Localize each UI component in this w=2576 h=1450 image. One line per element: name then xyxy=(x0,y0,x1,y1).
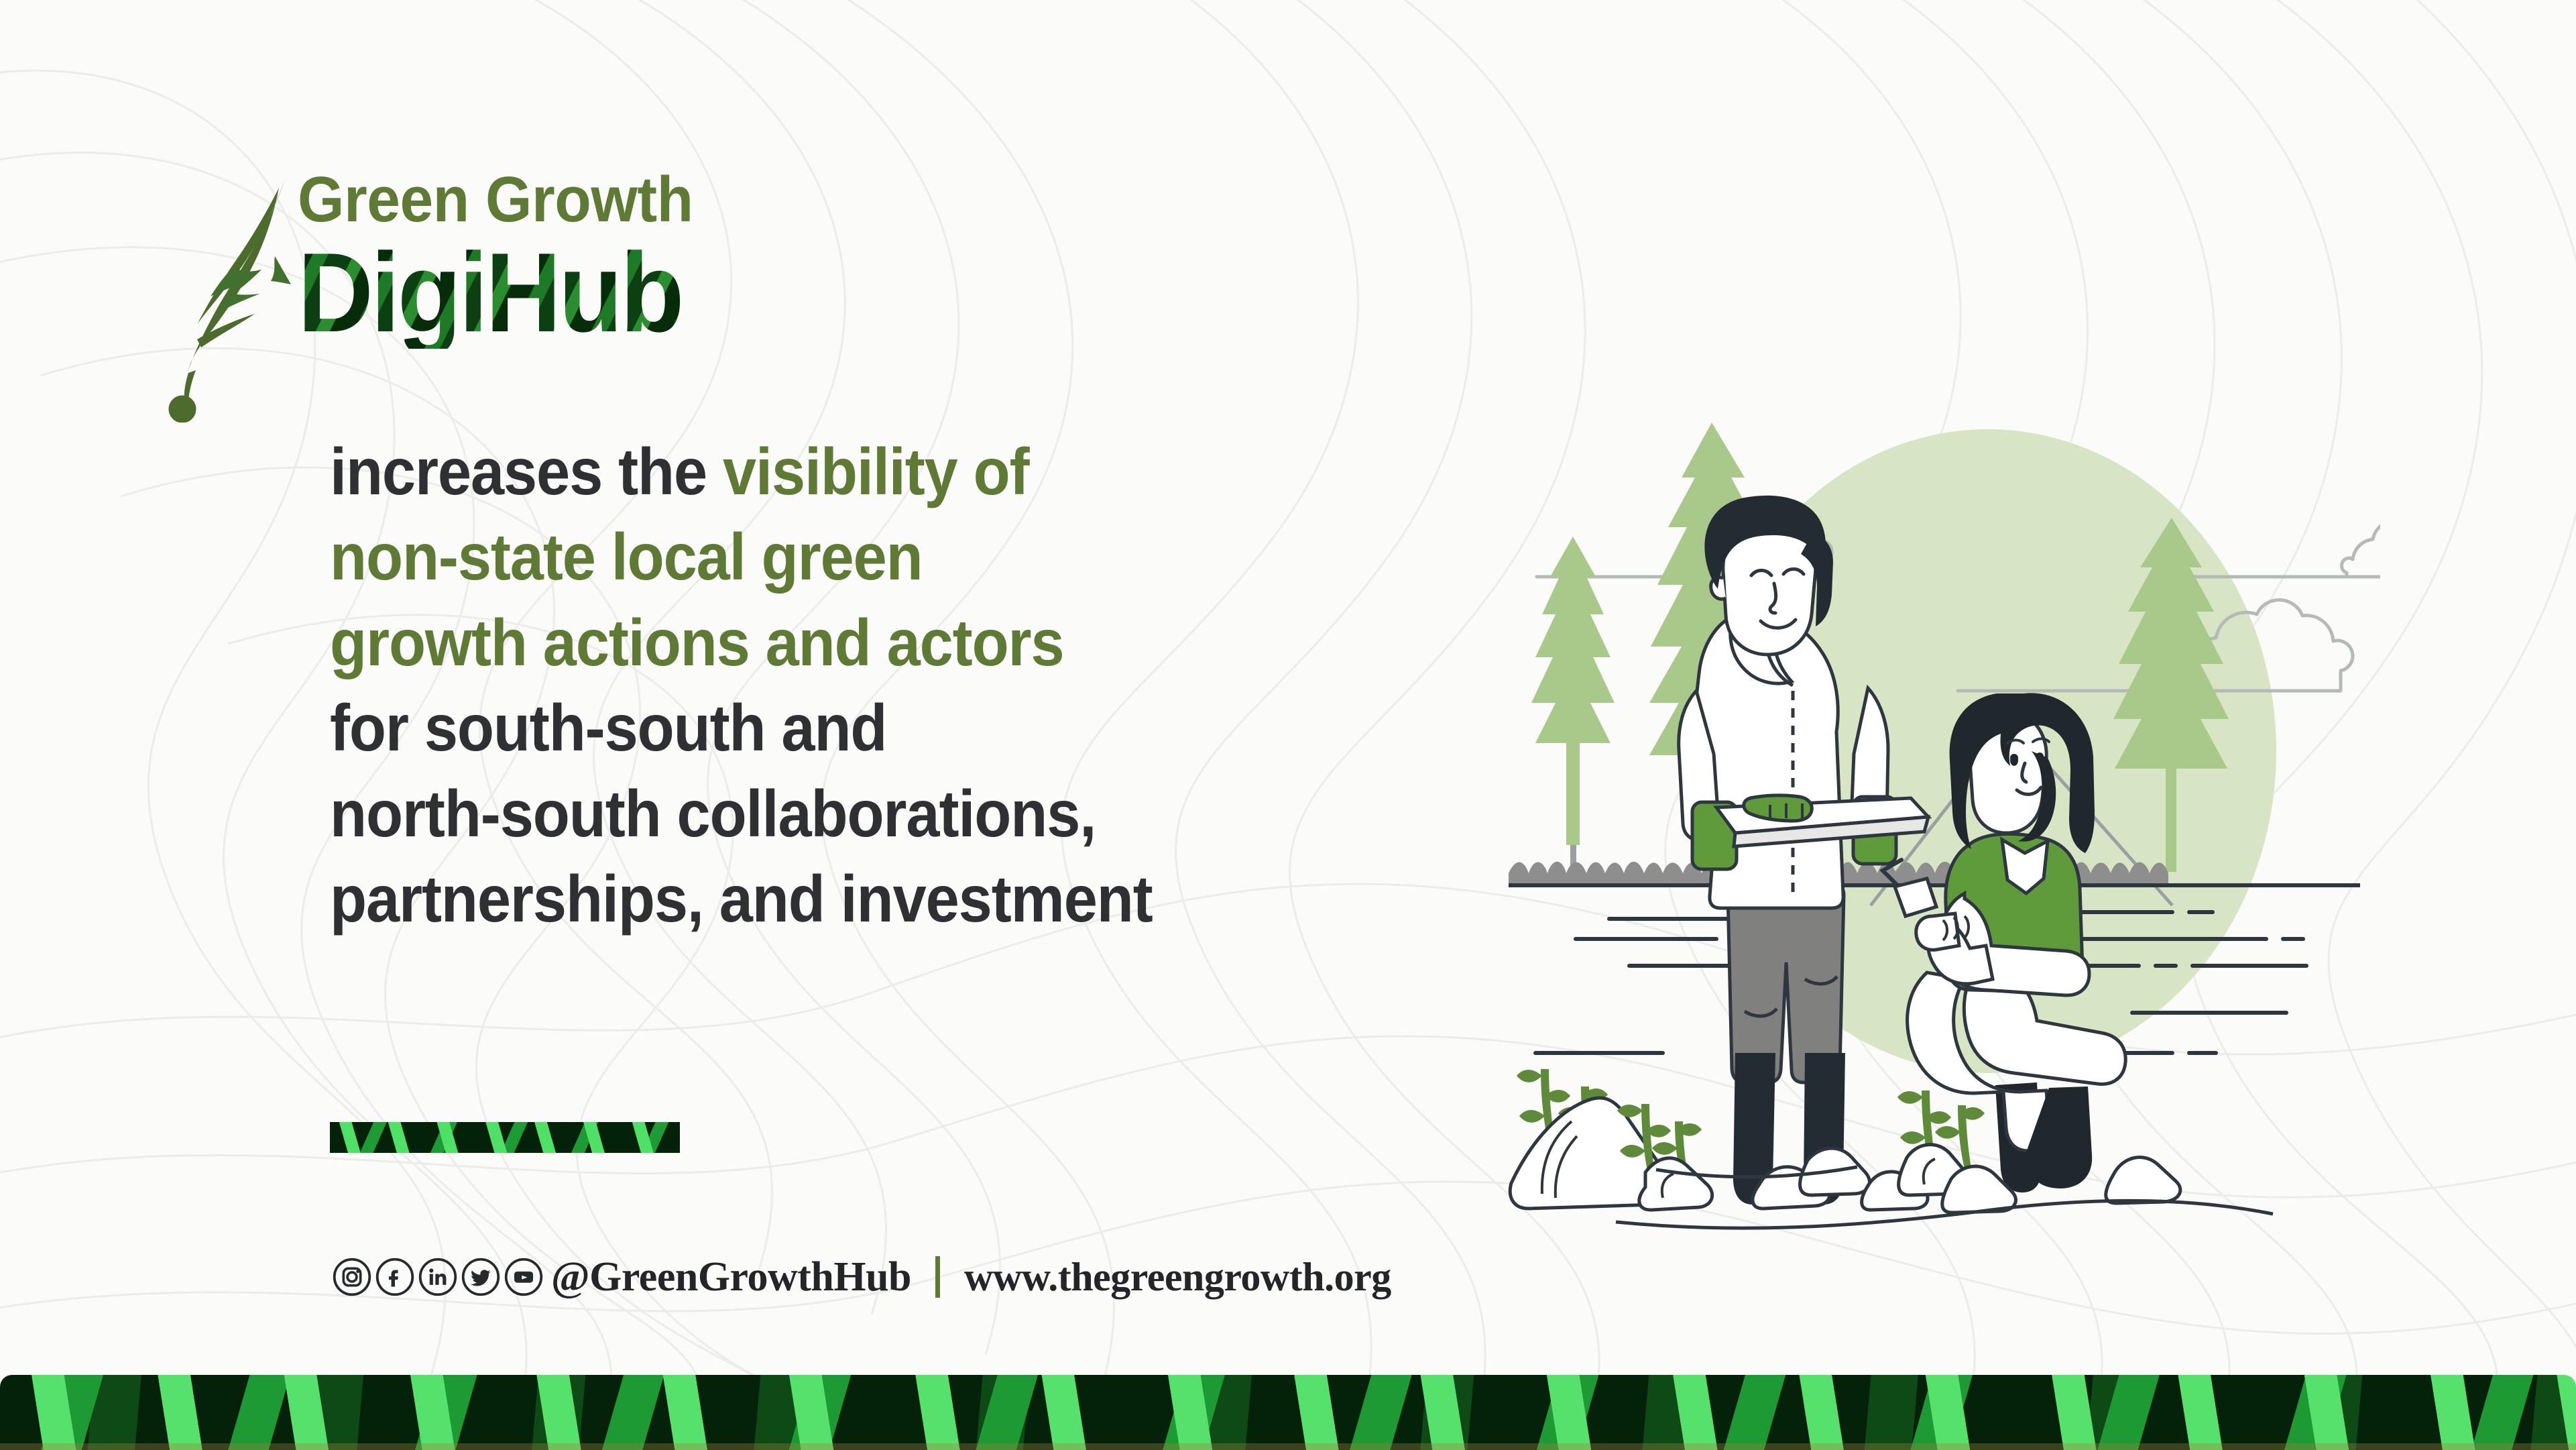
headline-line-3-accent: growth actions and actors xyxy=(330,606,1064,679)
feather-leaf-lightning-icon xyxy=(166,174,294,423)
green-pattern-divider xyxy=(330,1122,680,1153)
social-handle[interactable]: @GreenGrowthHub xyxy=(551,1253,911,1301)
headline-line-4: for south-south and xyxy=(330,685,1391,771)
band-bottom-edge xyxy=(0,1443,2576,1450)
footer-bar: @GreenGrowthHub www.thegreengrowth.org xyxy=(333,1246,1391,1308)
website-url[interactable]: www.thegreengrowth.org xyxy=(964,1254,1391,1300)
green-pattern-bottom-band xyxy=(0,1375,2576,1450)
twitter-icon[interactable] xyxy=(461,1258,500,1296)
headline-line-2: non-state local green xyxy=(330,514,1391,600)
footer-separator xyxy=(935,1256,940,1298)
rock-small-a xyxy=(1639,1158,1712,1210)
headline-line-2-accent: non-state local green xyxy=(330,520,923,594)
logo-line-digihub: DigiHub xyxy=(298,236,693,349)
foreground-rocks-and-sprouts xyxy=(1510,1069,2273,1228)
woman-eye-right-dot xyxy=(2036,752,2044,761)
social-icon-row xyxy=(333,1258,543,1296)
headline-line-5: north-south collaborations, xyxy=(330,771,1391,856)
headline-line-6: partnerships, and investment xyxy=(330,856,1391,942)
rock-under-woman xyxy=(2106,1158,2180,1203)
two-people-planting-seedling-in-forest xyxy=(1495,376,2380,1288)
facebook-icon[interactable] xyxy=(375,1258,414,1296)
headline-line-1-plain: increases the xyxy=(330,435,723,508)
pine-tree-left xyxy=(1531,537,1615,865)
brand-logo: Green Growth DigiHub xyxy=(166,168,1105,436)
youtube-icon[interactable] xyxy=(504,1258,543,1296)
instagram-icon[interactable] xyxy=(333,1258,371,1296)
logo-line-green-growth: Green Growth xyxy=(298,168,693,232)
headline-paragraph: increases the visibility of non-state lo… xyxy=(330,429,1391,942)
woman-hand xyxy=(1916,913,1959,950)
woman-eye-left-dot xyxy=(2010,754,2018,762)
headline-line-3: growth actions and actors xyxy=(330,600,1391,685)
linkedin-icon[interactable] xyxy=(418,1258,457,1296)
poster-canvas: Green Growth DigiHub increases the visib… xyxy=(0,0,2576,1450)
headline-line-1: increases the visibility of xyxy=(330,429,1391,514)
headline-line-1-accent: visibility of xyxy=(723,435,1029,508)
logo-wordmark: Green Growth DigiHub xyxy=(298,168,723,349)
